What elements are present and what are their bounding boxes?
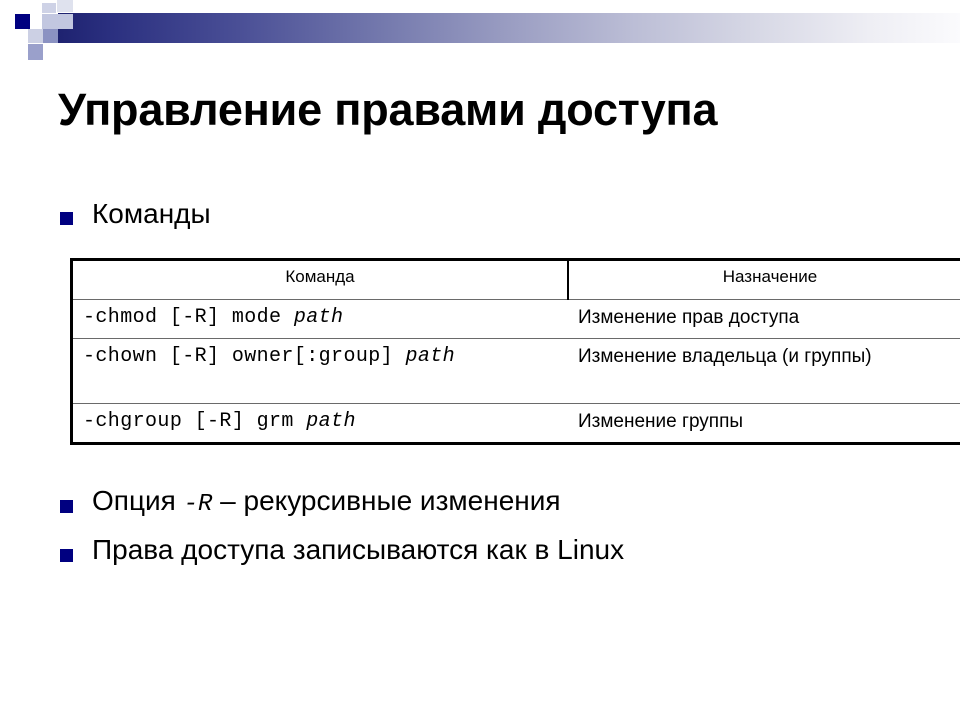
table-row: -chown [-R] owner[:group] path Изменение… (72, 339, 960, 404)
bullet-commands: Команды (60, 200, 960, 228)
bullet-permissions-linux-label: Права доступа записываются как в Linux (92, 536, 624, 564)
cell-description: Изменение группы (568, 404, 960, 444)
cell-command: -chgroup [-R] grm path (72, 404, 569, 444)
cell-description: Изменение прав доступа (568, 300, 960, 339)
bullet-option-recursive-label: Опция -R – рекурсивные изменения (92, 487, 561, 517)
table-row: -chmod [-R] mode path Изменение прав дос… (72, 300, 960, 339)
lower-bullets: Опция -R – рекурсивные изменения Права д… (0, 487, 960, 564)
bullet-code: -R (184, 491, 213, 518)
bullet-suffix: – рекурсивные изменения (212, 485, 560, 516)
command-text: -chgroup [-R] grm (83, 410, 306, 433)
bullet-square-icon (60, 549, 73, 562)
square-midblue-c (28, 44, 43, 60)
bullet-option-recursive: Опция -R – рекурсивные изменения (60, 487, 960, 517)
column-header-command: Команда (72, 260, 569, 300)
bullet-square-icon (60, 500, 73, 513)
square-faint-f (57, 0, 73, 12)
header-decoration (0, 0, 960, 80)
column-header-description: Назначение (568, 260, 960, 300)
bullet-commands-label: Команды (92, 200, 211, 228)
square-lightblue-b (28, 29, 43, 43)
cell-command: -chown [-R] owner[:group] path (72, 339, 569, 404)
page-title: Управление правами доступа (58, 84, 918, 136)
square-lightblue-d (42, 14, 73, 29)
cell-command: -chmod [-R] mode path (72, 300, 569, 339)
command-text: -chmod [-R] mode (83, 306, 294, 329)
slide-body: Команды (0, 200, 960, 228)
command-arg: path (405, 345, 455, 368)
command-arg: path (294, 306, 344, 329)
header-gradient-bar (58, 13, 960, 43)
square-navy-solid (15, 14, 30, 29)
square-midblue-e (43, 29, 58, 43)
bullet-prefix: Опция (92, 485, 184, 516)
bullet-square-icon (60, 212, 73, 225)
square-lightblue-a (42, 3, 56, 13)
commands-table: Команда Назначение -chmod [-R] mode path… (70, 258, 960, 445)
table-header-row: Команда Назначение (72, 260, 960, 300)
command-text: -chown [-R] owner[:group] (83, 345, 405, 368)
cell-description: Изменение владельца (и группы) (568, 339, 960, 404)
bullet-permissions-linux: Права доступа записываются как в Linux (60, 536, 960, 564)
table-row: -chgroup [-R] grm path Изменение группы (72, 404, 960, 444)
command-arg: path (306, 410, 356, 433)
